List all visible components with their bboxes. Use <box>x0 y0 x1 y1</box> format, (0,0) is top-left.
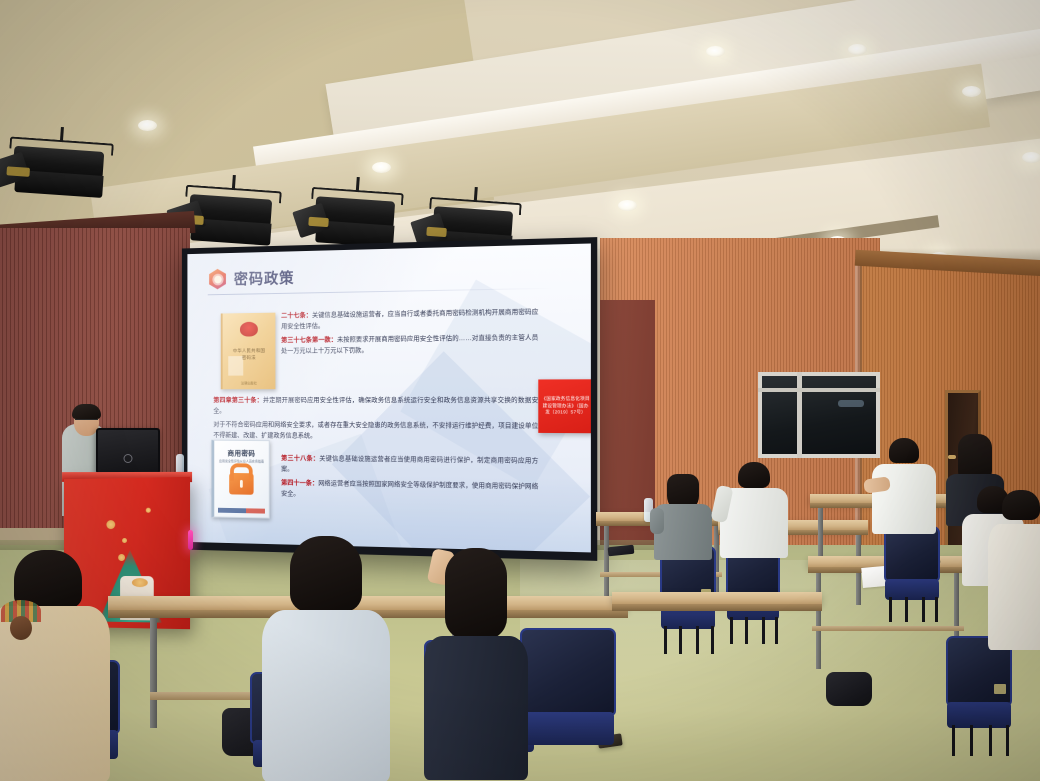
chair-front-4[interactable] <box>520 628 616 780</box>
audience-mid-grey-arm <box>650 508 664 534</box>
audience-front-center-hair <box>290 536 362 612</box>
desk-front-leg-1 <box>150 618 157 728</box>
downlight-7 <box>618 200 637 211</box>
audience-front-center <box>262 536 390 781</box>
audience-front-right-hair <box>445 548 507 640</box>
podium-decoration-dot-2 <box>122 538 127 543</box>
window-top-rail <box>758 388 880 392</box>
chair-right-2[interactable] <box>946 636 1012 756</box>
back-window <box>758 372 880 458</box>
backpack-under-desk <box>826 672 872 706</box>
chair-tag <box>994 684 1006 694</box>
audience-right-white-polo-hair <box>889 438 919 463</box>
tshirt-face-graphic <box>10 616 32 640</box>
chair-legs <box>663 626 712 654</box>
audience-mid-grey <box>654 474 712 560</box>
audience-front-left <box>0 550 110 781</box>
pink-accent-light <box>188 530 193 550</box>
chair-right-1[interactable] <box>884 526 940 622</box>
chair-back <box>884 526 940 582</box>
audience-right-glasses-b-torso <box>988 524 1040 650</box>
chair-legs <box>950 725 1008 756</box>
presenter-monitor[interactable] <box>96 428 160 474</box>
chair-legs <box>887 597 936 622</box>
dell-logo-icon <box>124 454 133 463</box>
podium-decoration-dot-3 <box>118 554 125 561</box>
presenter-glasses <box>75 419 98 424</box>
audience-front-right-torso <box>424 636 528 780</box>
desk-right-2-shelf <box>812 626 964 631</box>
audience-right-glasses-b-hair <box>1002 490 1040 520</box>
audience-mid-white <box>720 462 788 558</box>
podium-decoration-dot-1 <box>106 520 115 529</box>
stage-spotlight-1 <box>6 136 114 201</box>
podium-decoration-dot-5 <box>132 578 148 587</box>
presenter-hair <box>72 404 101 419</box>
window-mullion <box>797 372 802 458</box>
audience-right-glasses-b <box>988 490 1040 650</box>
audience-front-center-torso <box>262 610 390 781</box>
chair-back <box>520 628 616 716</box>
spotlight-lens <box>426 227 447 237</box>
downlight-5 <box>962 86 981 97</box>
desk-front-right <box>612 592 822 604</box>
downlight-6 <box>1022 152 1040 163</box>
downlight-4 <box>848 44 867 55</box>
spotlight-lens <box>6 166 29 177</box>
conference-room-photo: 密码政策 中华人民共和国 密码法 法律出版社 二十七条：关键信息基础设施运营者，… <box>0 0 1040 781</box>
desk-mid-1-leg-left <box>604 526 609 604</box>
downlight-3 <box>706 46 725 57</box>
podium-decoration-dot-4 <box>146 508 151 513</box>
slide-surface: 密码政策 中华人民共和国 密码法 法律出版社 二十七条：关键信息基础设施运营者，… <box>187 243 590 552</box>
stage-spotlight-3 <box>308 187 404 247</box>
policy-document-stamp-text: 《国家政务信息化项目建设管理办法》（国办发〔2019〕57号） <box>538 396 591 416</box>
audience-front-right <box>424 548 528 780</box>
audience-right-white-polo <box>872 438 936 534</box>
audience-right-white-polo-torso <box>872 464 936 534</box>
screen-glare <box>187 243 448 552</box>
audience-mid-white-hair <box>738 462 770 488</box>
tshirt-graphic <box>0 594 50 650</box>
window-reflection <box>838 400 864 407</box>
downlight-1 <box>138 120 157 131</box>
chair-legs <box>729 617 777 644</box>
desk-right-2-leg-left <box>816 573 821 669</box>
policy-document-stamp: 《国家政务信息化项目建设管理办法》（国办发〔2019〕57号） <box>538 379 591 433</box>
downlight-2 <box>372 162 391 173</box>
chair-seat <box>522 712 614 745</box>
projection-screen[interactable]: 密码政策 中华人民共和国 密码法 法律出版社 二十七条：关键信息基础设施运营者，… <box>182 237 597 561</box>
stage-spotlight-2 <box>182 185 282 248</box>
desk-front-right-edge <box>612 604 822 611</box>
spotlight-lens <box>308 217 329 227</box>
